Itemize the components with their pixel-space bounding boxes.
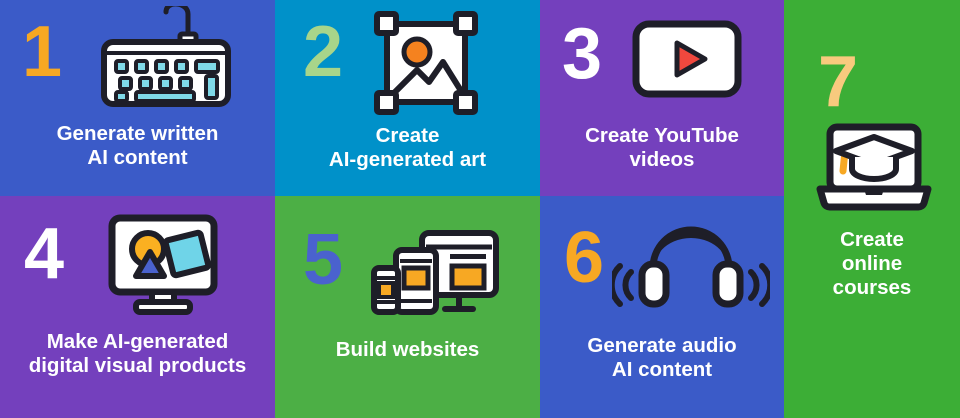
laptop-graduation-icon xyxy=(814,123,934,215)
image-artboard-icon xyxy=(373,10,479,116)
responsive-devices-icon xyxy=(370,228,500,318)
headphones-icon xyxy=(612,224,770,310)
step-caption-7: Create online courses xyxy=(784,228,960,301)
step-card-7[interactable]: 7 Create online courses xyxy=(784,0,960,418)
step-card-3[interactable]: 3 Create YouTube videos xyxy=(540,0,784,196)
step-card-6[interactable]: 6 Generate audio AI content xyxy=(540,196,784,418)
step-number-3: 3 xyxy=(562,18,601,90)
youtube-play-icon xyxy=(632,20,742,98)
step-card-1[interactable]: 1 xyxy=(0,0,275,196)
step-caption-2: Create AI-generated art xyxy=(275,124,540,172)
step-caption-6: Generate audio AI content xyxy=(540,334,784,382)
step-caption-3: Create YouTube videos xyxy=(540,124,784,172)
step-caption-5: Build websites xyxy=(275,338,540,362)
keyboard-icon xyxy=(96,6,236,110)
step-number-4: 4 xyxy=(24,218,63,290)
step-caption-4: Make AI-generated digital visual product… xyxy=(0,330,275,378)
monitor-design-icon xyxy=(107,214,219,316)
step-number-7: 7 xyxy=(818,46,857,118)
step-number-2: 2 xyxy=(303,16,342,88)
ai-uses-infographic: 1 xyxy=(0,0,960,418)
step-number-6: 6 xyxy=(564,222,603,294)
step-card-5[interactable]: 5 xyxy=(275,196,540,418)
step-caption-1: Generate written AI content xyxy=(0,122,275,170)
step-card-2[interactable]: 2 Create AI-generated art xyxy=(275,0,540,196)
step-number-1: 1 xyxy=(22,16,61,88)
step-card-4[interactable]: 4 Make AI-generated digital visual produ… xyxy=(0,196,275,418)
step-number-5: 5 xyxy=(303,224,342,296)
